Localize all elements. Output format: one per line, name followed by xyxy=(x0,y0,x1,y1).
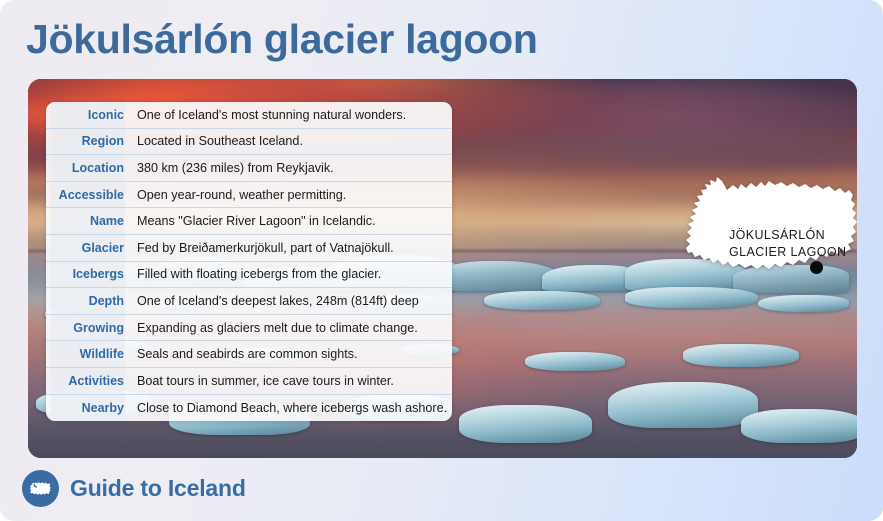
fact-value: Open year-round, weather permitting. xyxy=(125,182,452,208)
fact-value: One of Iceland's most stunning natural w… xyxy=(125,102,452,128)
table-row: GlacierFed by Breiðamerkurjökull, part o… xyxy=(46,235,452,262)
location-marker-dot xyxy=(810,261,823,274)
ice-floe xyxy=(459,405,592,443)
fact-value: Means "Glacier River Lagoon" in Icelandi… xyxy=(125,208,452,234)
table-row: IcebergsFilled with floating icebergs fr… xyxy=(46,262,452,289)
brand-name: Guide to Iceland xyxy=(70,475,246,502)
fact-label: Icebergs xyxy=(51,262,125,288)
fact-value: Fed by Breiðamerkurjökull, part of Vatna… xyxy=(125,235,452,261)
map-label-group: JÖKULSÁRLÓN GLACIER LAGOON xyxy=(729,227,846,261)
table-row: Location380 km (236 miles) from Reykjavi… xyxy=(46,155,452,182)
fact-value: Boat tours in summer, ice cave tours in … xyxy=(125,368,452,394)
fact-value: Close to Diamond Beach, where icebergs w… xyxy=(125,395,452,422)
footer-brand[interactable]: Guide to Iceland xyxy=(22,470,246,507)
fact-label: Region xyxy=(51,129,125,155)
fact-label: Growing xyxy=(51,315,125,341)
ice-floe xyxy=(525,352,624,371)
ice-floe xyxy=(683,344,799,367)
ice-floe xyxy=(484,291,600,310)
fact-label: Nearby xyxy=(51,395,125,422)
fact-label: Depth xyxy=(51,288,125,314)
facts-table: IconicOne of Iceland's most stunning nat… xyxy=(46,102,452,421)
table-row: AccessibleOpen year-round, weather permi… xyxy=(46,182,452,209)
table-row: NearbyClose to Diamond Beach, where iceb… xyxy=(46,395,452,422)
iceland-silhouette-icon xyxy=(22,470,59,507)
map-label-line1: JÖKULSÁRLÓN xyxy=(729,227,846,244)
fact-label: Name xyxy=(51,208,125,234)
table-row: IconicOne of Iceland's most stunning nat… xyxy=(46,102,452,129)
map-label-line2: GLACIER LAGOON xyxy=(729,244,846,261)
infographic-page: Jökulsárlón glacier lagoon xyxy=(0,0,883,521)
fact-label: Activities xyxy=(51,368,125,394)
fact-label: Location xyxy=(51,155,125,181)
iceland-map-inset: JÖKULSÁRLÓN GLACIER LAGOON xyxy=(683,176,857,308)
table-row: ActivitiesBoat tours in summer, ice cave… xyxy=(46,368,452,395)
fact-value: Located in Southeast Iceland. xyxy=(125,129,452,155)
fact-value: Seals and seabirds are common sights. xyxy=(125,341,452,367)
fact-value: Filled with floating icebergs from the g… xyxy=(125,262,452,288)
fact-label: Wildlife xyxy=(51,341,125,367)
table-row: GrowingExpanding as glaciers melt due to… xyxy=(46,315,452,342)
fact-value: 380 km (236 miles) from Reykjavik. xyxy=(125,155,452,181)
table-row: RegionLocated in Southeast Iceland. xyxy=(46,129,452,156)
fact-value: One of Iceland's deepest lakes, 248m (81… xyxy=(125,288,452,314)
fact-label: Iconic xyxy=(51,102,125,128)
table-row: NameMeans "Glacier River Lagoon" in Icel… xyxy=(46,208,452,235)
fact-label: Accessible xyxy=(51,182,125,208)
table-row: DepthOne of Iceland's deepest lakes, 248… xyxy=(46,288,452,315)
fact-label: Glacier xyxy=(51,235,125,261)
ice-floe xyxy=(741,409,857,443)
page-title: Jökulsárlón glacier lagoon xyxy=(26,8,538,70)
fact-value: Expanding as glaciers melt due to climat… xyxy=(125,315,452,341)
ice-floe xyxy=(608,382,757,427)
table-row: WildlifeSeals and seabirds are common si… xyxy=(46,341,452,368)
